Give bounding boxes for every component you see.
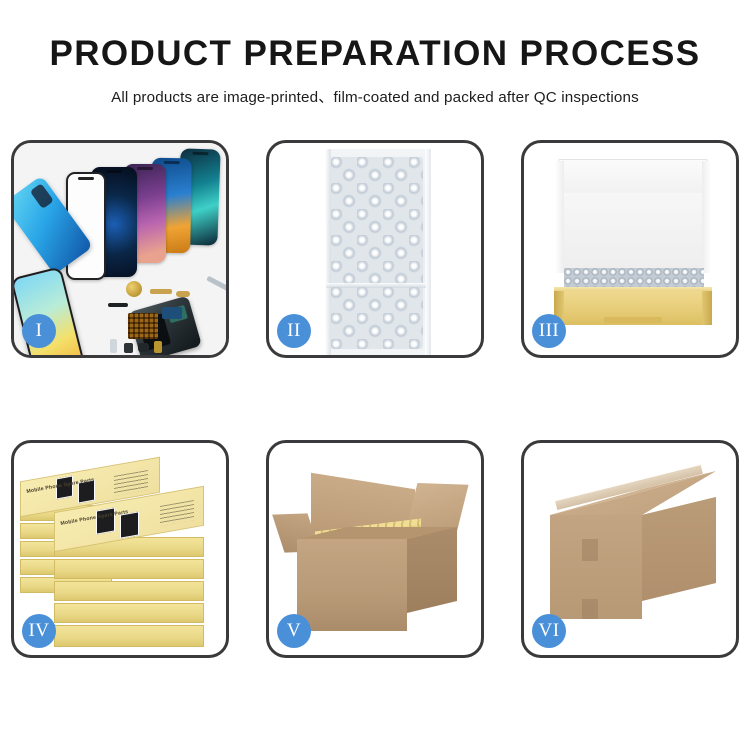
process-step-4: Mobile Phone Spare Parts Mobile Phone Sp… bbox=[11, 440, 229, 658]
process-step-6: VI bbox=[521, 440, 739, 658]
gold-coil-part bbox=[126, 281, 142, 297]
product-preparation-infographic: PRODUCT PREPARATION PROCESS All products… bbox=[0, 0, 750, 750]
step-badge-6: VI bbox=[532, 614, 566, 648]
carton-side-panel bbox=[407, 527, 457, 613]
step-badge-3: III bbox=[532, 314, 566, 348]
retail-box bbox=[54, 581, 204, 601]
box-flap-right bbox=[702, 161, 711, 273]
retail-box bbox=[54, 603, 204, 623]
notch-icon bbox=[106, 170, 122, 173]
step-badge-2: II bbox=[277, 314, 311, 348]
speaker-mesh-part bbox=[108, 303, 128, 307]
process-step-5: V bbox=[266, 440, 484, 658]
notch-icon bbox=[192, 152, 208, 156]
spare-parts-cluster bbox=[106, 281, 226, 355]
gold-contact-part bbox=[154, 341, 162, 353]
sealed-carton-side-panel bbox=[642, 497, 716, 601]
carton-seam-tab-lower bbox=[582, 599, 598, 619]
flex-cable-part bbox=[150, 289, 172, 294]
header: PRODUCT PREPARATION PROCESS All products… bbox=[0, 0, 750, 107]
process-step-3: III bbox=[521, 140, 739, 358]
sim-tray-part bbox=[110, 339, 117, 353]
notch-icon bbox=[137, 167, 153, 170]
bubble-wrap-bubbles bbox=[331, 157, 423, 349]
carton-front-panel bbox=[297, 539, 407, 631]
notch-icon bbox=[78, 177, 94, 180]
page-subtitle: All products are image-printed、film-coat… bbox=[0, 85, 750, 107]
box-closure-tab bbox=[604, 317, 662, 323]
bubble-wrap-seam-left bbox=[325, 149, 331, 355]
camera-module-part bbox=[124, 343, 133, 353]
flex-connector-part bbox=[176, 291, 190, 297]
page-title: PRODUCT PREPARATION PROCESS bbox=[0, 34, 750, 74]
carton-seam-tab-upper bbox=[582, 539, 598, 561]
logic-board-part bbox=[162, 307, 182, 319]
step-badge-1: I bbox=[22, 314, 56, 348]
notch-icon bbox=[164, 161, 180, 164]
box-flap-left bbox=[555, 161, 564, 273]
process-step-1: I bbox=[11, 140, 229, 358]
box-inner-wall bbox=[562, 193, 704, 271]
retail-box bbox=[54, 559, 204, 579]
process-step-2: II bbox=[266, 140, 484, 358]
bubble-wrap-seam-right bbox=[425, 149, 431, 355]
screw-tray-grid bbox=[128, 313, 158, 339]
vibrator-part bbox=[138, 343, 149, 352]
step-badge-5: V bbox=[277, 614, 311, 648]
process-step-grid: I II III bbox=[11, 140, 739, 658]
step-badge-4: IV bbox=[22, 614, 56, 648]
bubble-wrap-fold bbox=[326, 283, 426, 288]
retail-box bbox=[54, 625, 204, 647]
